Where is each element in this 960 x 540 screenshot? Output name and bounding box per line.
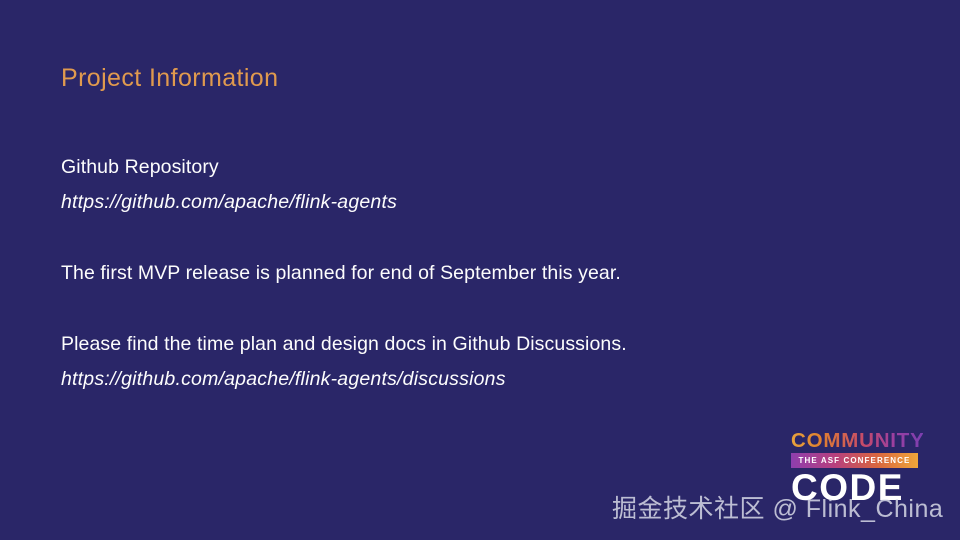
- logo-tagline-text: THE ASF CONFERENCE: [799, 456, 911, 465]
- body-line-mvp-release: The first MVP release is planned for end…: [61, 256, 881, 291]
- watermark-text: 掘金技术社区 @ Flink_China: [612, 494, 943, 524]
- body-line-github-repository: Github Repository: [61, 150, 881, 185]
- link-flink-agents-repo[interactable]: https://github.com/apache/flink-agents: [61, 185, 881, 220]
- logo-community-wordmark: COMMUNITY: [791, 430, 923, 451]
- body-line-time-plan: Please find the time plan and design doc…: [61, 327, 881, 362]
- paragraph-mvp-release: The first MVP release is planned for end…: [61, 256, 881, 291]
- logo-tagline-bar: THE ASF CONFERENCE: [791, 453, 918, 468]
- paragraph-discussions: Please find the time plan and design doc…: [61, 327, 881, 397]
- slide-canvas: Project Information Github Repository ht…: [0, 0, 960, 540]
- page-title: Project Information: [61, 64, 278, 93]
- slide-body: Github Repository https://github.com/apa…: [61, 150, 881, 397]
- paragraph-repository: Github Repository https://github.com/apa…: [61, 150, 881, 220]
- link-flink-agents-discussions[interactable]: https://github.com/apache/flink-agents/d…: [61, 362, 881, 397]
